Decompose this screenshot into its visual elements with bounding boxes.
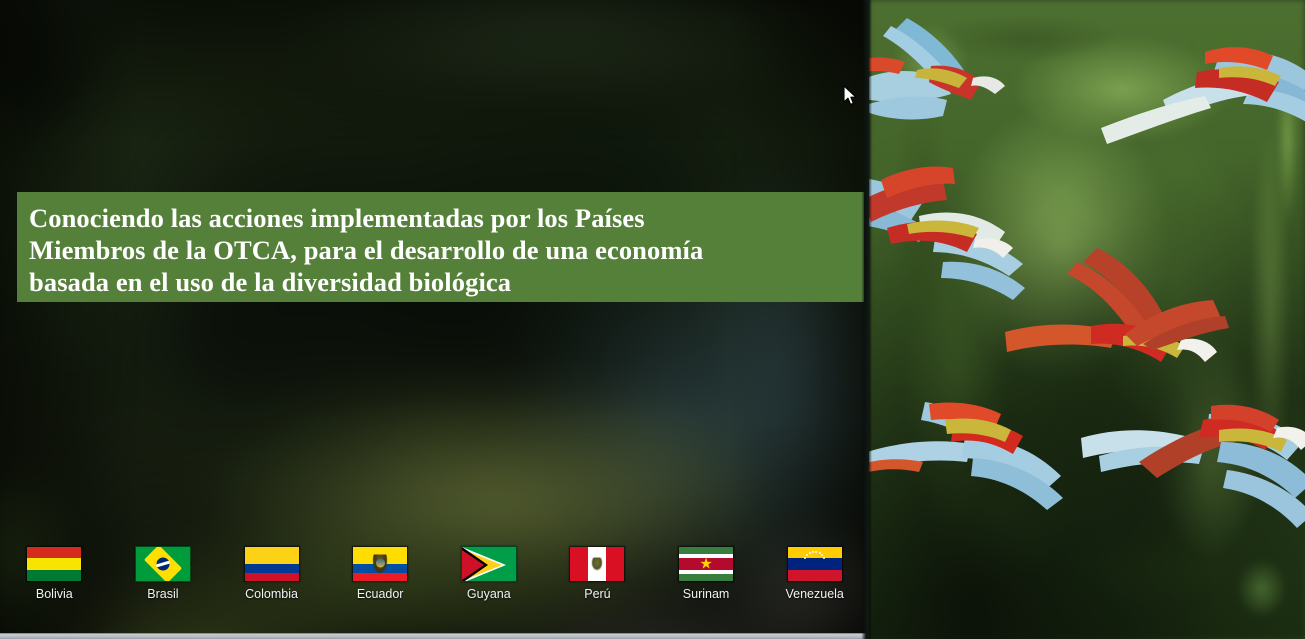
- country-label-venezuela: Venezuela: [785, 587, 843, 601]
- country-label-guyana: Guyana: [467, 587, 511, 601]
- slide-title: Conociendo las acciones implementadas po…: [29, 202, 864, 298]
- country-item-peru[interactable]: Perú: [543, 546, 652, 601]
- country-item-ecuador[interactable]: Ecuador: [326, 546, 435, 601]
- country-item-colombia[interactable]: Colombia: [217, 546, 326, 601]
- flag-bolivia-icon: [26, 546, 82, 582]
- macaw-bird-2: [1101, 30, 1305, 170]
- photo-left-edge-shadow: [869, 0, 872, 639]
- country-label-peru: Perú: [584, 587, 610, 601]
- macaw-bird-6: [1081, 386, 1305, 556]
- macaw-photo-panel: [869, 0, 1305, 639]
- country-item-venezuela[interactable]: Venezuela: [760, 546, 869, 601]
- country-label-bolivia: Bolivia: [36, 587, 73, 601]
- country-item-guyana[interactable]: Guyana: [435, 546, 544, 601]
- flag-ecuador-icon: [352, 546, 408, 582]
- country-item-brasil[interactable]: Brasil: [109, 546, 218, 601]
- title-banner: Conociendo las acciones implementadas po…: [17, 192, 864, 302]
- macaw-bird-5: [869, 392, 1101, 532]
- flag-peru-icon: [569, 546, 625, 582]
- flag-surinam-icon: ★: [678, 546, 734, 582]
- flag-brasil-icon: [135, 546, 191, 582]
- background-vignette: [0, 0, 869, 639]
- country-label-surinam: Surinam: [683, 587, 730, 601]
- country-label-ecuador: Ecuador: [357, 587, 404, 601]
- macaw-bird-1: [869, 8, 1027, 158]
- slide-screen: Conociendo las acciones implementadas po…: [0, 0, 1305, 639]
- mouse-pointer-icon: [843, 85, 859, 107]
- country-item-surinam[interactable]: ★ Surinam: [652, 546, 761, 601]
- country-item-bolivia[interactable]: Bolivia: [0, 546, 109, 601]
- slide-panel: Conociendo las acciones implementadas po…: [0, 0, 869, 639]
- bottom-chrome-bar: [0, 633, 869, 639]
- macaw-bird-7: [1125, 300, 1245, 350]
- country-label-brasil: Brasil: [147, 587, 178, 601]
- country-label-colombia: Colombia: [245, 587, 298, 601]
- flag-guyana-icon: [461, 546, 517, 582]
- flag-venezuela-icon: [787, 546, 843, 582]
- flag-colombia-icon: [244, 546, 300, 582]
- member-countries-flag-strip: Bolivia Brasil Colombia Ecuador: [0, 546, 869, 618]
